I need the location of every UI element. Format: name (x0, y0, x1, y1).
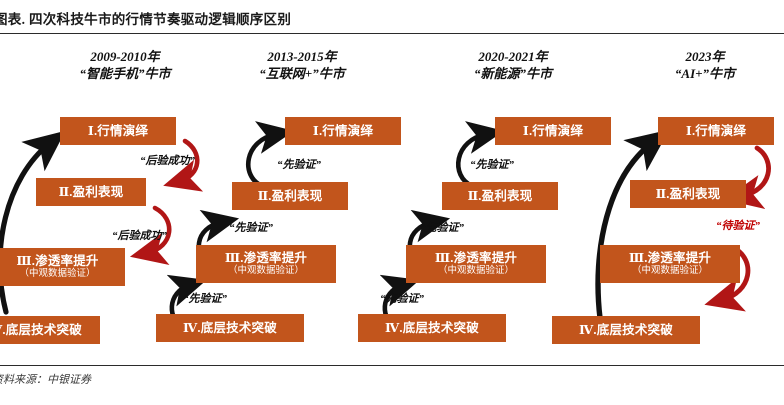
footer-divider (0, 365, 784, 366)
box-label: Ⅱ.盈利表现 (468, 189, 533, 203)
box-col1-stage-4[interactable]: Ⅳ.底层技术突破 (0, 316, 100, 344)
column-period: 2013-2015年 (207, 48, 397, 65)
box-col3-stage-1[interactable]: Ⅰ.行情演绎 (495, 117, 611, 145)
column-period: 2020-2021年 (418, 48, 608, 65)
box-label: Ⅲ.渗透率提升 (16, 254, 98, 268)
box-col3-stage-3[interactable]: Ⅲ.渗透率提升 （中观数据验证） (406, 245, 546, 283)
box-col2-stage-3[interactable]: Ⅲ.渗透率提升 （中观数据验证） (196, 245, 336, 283)
column-theme: “智能手机”牛市 (25, 65, 225, 82)
connector-label-col2-3: “先验证” (183, 290, 227, 306)
connector-label-col2-1: “先验证” (277, 156, 321, 172)
figure-root: 图表. 四次科技牛市的行情节奏驱动逻辑顺序区别 资料来源：中银证券 2009-2… (0, 0, 784, 405)
box-col3-stage-4[interactable]: Ⅳ.底层技术突破 (358, 314, 506, 342)
column-header-2020: 2020-2021年 “新能源”牛市 (418, 48, 608, 82)
box-label: Ⅱ.盈利表现 (656, 187, 721, 201)
column-theme: “新能源”牛市 (418, 65, 608, 82)
column-period: 2009-2010年 (25, 48, 225, 65)
connector-label-col3-1: “先验证” (470, 156, 514, 172)
box-col4-stage-2[interactable]: Ⅱ.盈利表现 (630, 180, 746, 208)
box-label: Ⅰ.行情演绎 (523, 124, 583, 138)
box-col1-stage-2[interactable]: Ⅱ.盈利表现 (36, 178, 146, 206)
box-label: Ⅳ.底层技术突破 (579, 323, 673, 337)
box-col1-stage-3[interactable]: Ⅲ.渗透率提升 （中观数据验证） (0, 248, 125, 286)
column-theme: “互联网+”牛市 (207, 65, 397, 82)
connector-label-col1-2: “后验成功” (112, 227, 167, 243)
box-col2-stage-2[interactable]: Ⅱ.盈利表现 (232, 182, 348, 210)
connector-label-col2-2: “先验证” (229, 219, 273, 235)
connector-label-col3-3: “先验证” (380, 290, 424, 306)
box-col1-stage-1[interactable]: Ⅰ.行情演绎 (60, 117, 176, 145)
source-note: 资料来源：中银证券 (0, 371, 91, 387)
column-theme: “AI+”牛市 (620, 65, 784, 82)
box-col2-stage-1[interactable]: Ⅰ.行情演绎 (285, 117, 401, 145)
column-header-2023: 2023年 “AI+”牛市 (620, 48, 784, 82)
arrow-col2-II-to-I (248, 134, 277, 186)
box-label: Ⅰ.行情演绎 (313, 124, 373, 138)
box-label: Ⅳ.底层技术突破 (0, 323, 82, 337)
box-label: Ⅰ.行情演绎 (88, 124, 148, 138)
connector-label-col3-2: “先验证” (420, 219, 464, 235)
box-sublabel: （中观数据验证） (228, 266, 304, 277)
box-sublabel: （中观数据验证） (19, 269, 95, 280)
box-label: Ⅳ.底层技术突破 (385, 321, 479, 335)
connector-label-col1-1: “后验成功” (140, 152, 195, 168)
connector-label-col4-1: “待验证” (716, 217, 760, 233)
box-label: Ⅲ.渗透率提升 (629, 251, 711, 265)
column-header-2013: 2013-2015年 “互联网+”牛市 (207, 48, 397, 82)
box-col4-stage-1[interactable]: Ⅰ.行情演绎 (658, 117, 774, 145)
column-period: 2023年 (620, 48, 784, 65)
figure-title: 图表. 四次科技牛市的行情节奏驱动逻辑顺序区别 (0, 8, 291, 28)
box-col4-stage-3[interactable]: Ⅲ.渗透率提升 （中观数据验证） (600, 245, 740, 283)
box-sublabel: （中观数据验证） (632, 266, 708, 277)
title-divider (0, 33, 784, 34)
box-label: Ⅳ.底层技术突破 (183, 321, 277, 335)
box-label: Ⅰ.行情演绎 (686, 124, 746, 138)
box-sublabel: （中观数据验证） (438, 266, 514, 277)
column-header-2009: 2009-2010年 “智能手机”牛市 (25, 48, 225, 82)
box-col4-stage-4[interactable]: Ⅳ.底层技术突破 (552, 316, 700, 344)
box-label: Ⅲ.渗透率提升 (225, 251, 307, 265)
box-label: Ⅱ.盈利表现 (258, 189, 323, 203)
box-col2-stage-4[interactable]: Ⅳ.底层技术突破 (156, 314, 304, 342)
arrow-col1-bottom-to-top (0, 143, 50, 312)
box-col3-stage-2[interactable]: Ⅱ.盈利表现 (442, 182, 558, 210)
arrow-col4-bottom-to-top (598, 142, 653, 318)
box-label: Ⅲ.渗透率提升 (435, 251, 517, 265)
box-label: Ⅱ.盈利表现 (59, 185, 124, 199)
